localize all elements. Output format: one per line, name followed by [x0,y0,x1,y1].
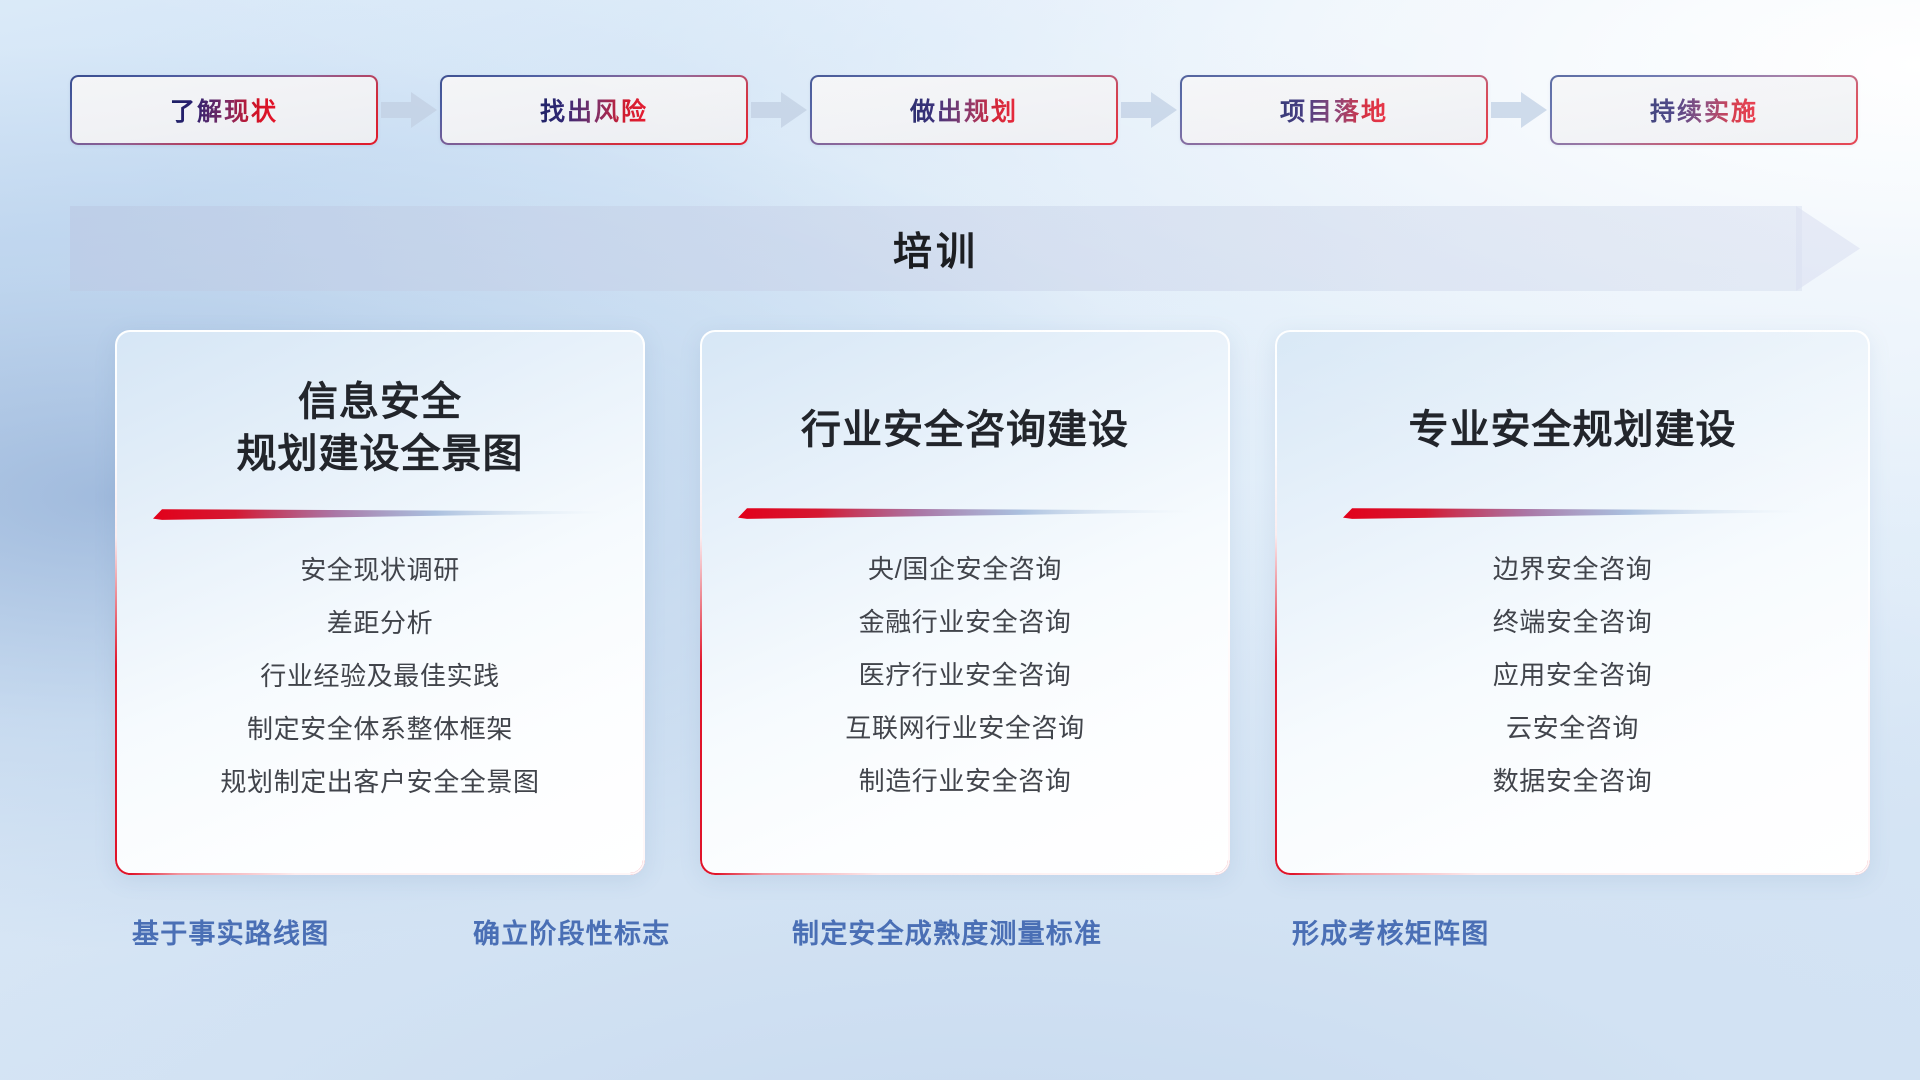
service-card-title: 专业安全规划建设 [1409,404,1737,456]
banner-arrow-tip-icon [1796,195,1860,302]
process-step-5[interactable]: 持续实施 [1550,75,1858,145]
right-arrow-icon [1118,91,1180,129]
process-step-1[interactable]: 了解现状 [70,75,378,145]
service-card-content: 信息安全 规划建设全景图 [115,330,645,875]
card-divider-bar [738,505,1193,519]
service-card-row: 信息安全 规划建设全景图 [70,330,1860,875]
process-step-label: 做出规划 [910,92,1018,128]
card-divider-bar [1343,505,1803,519]
card-divider-bar [153,506,608,520]
process-step-2[interactable]: 找出风险 [440,75,748,145]
list-item: 金融行业安全咨询 [859,602,1072,639]
caption-3: 制定安全成熟度测量标准 [792,912,1102,951]
process-step-label: 持续实施 [1650,92,1758,128]
slide-canvas: 了解现状 找出风险 做出规划 [0,0,1920,1080]
training-banner-title: 培训 [70,206,1802,291]
list-item: 规划制定出客户安全全景图 [220,762,539,799]
caption-row: 基于事实路线图 确立阶段性标志 制定安全成熟度测量标准 形成考核矩阵图 [70,912,1860,962]
list-item: 安全现状调研 [300,550,460,587]
process-step-wrapper: 了解现状 [70,75,378,145]
process-step-label: 找出风险 [540,92,648,128]
process-step-wrapper: 持续实施 [1550,75,1858,145]
process-step-label: 了解现状 [170,92,278,128]
process-step-wrapper: 做出规划 [810,75,1118,145]
service-card-list: 安全现状调研 差距分析 行业经验及最佳实践 制定安全体系整体框架 规划制定出客户… [220,550,539,799]
training-banner: 培训 [70,206,1860,291]
process-step-4[interactable]: 项目落地 [1180,75,1488,145]
caption-1: 基于事实路线图 [132,912,329,951]
caption-4: 形成考核矩阵图 [1292,912,1489,951]
service-card-title: 信息安全 规划建设全景图 [237,376,524,480]
process-step-strip: 了解现状 找出风险 做出规划 [70,75,1860,145]
service-card-3[interactable]: 专业安全规划建设 [1275,330,1870,875]
list-item: 行业经验及最佳实践 [260,656,499,693]
list-item: 数据安全咨询 [1493,761,1653,798]
list-item: 央/国企安全咨询 [868,549,1062,586]
list-item: 终端安全咨询 [1493,602,1653,639]
list-item: 云安全咨询 [1506,708,1639,745]
process-step-wrapper: 找出风险 [440,75,748,145]
right-arrow-icon [378,91,440,129]
list-item: 差距分析 [327,603,433,640]
list-item: 互联网行业安全咨询 [845,708,1084,745]
list-item: 制定安全体系整体框架 [247,709,513,746]
list-item: 边界安全咨询 [1493,549,1653,586]
process-step-label: 项目落地 [1280,92,1388,128]
service-card-content: 专业安全规划建设 [1275,330,1870,875]
service-card-title: 行业安全咨询建设 [801,404,1129,456]
caption-2: 确立阶段性标志 [473,912,670,951]
service-card-list: 央/国企安全咨询 金融行业安全咨询 医疗行业安全咨询 互联网行业安全咨询 制造行… [845,549,1084,798]
service-card-2[interactable]: 行业安全咨询建设 [700,330,1230,875]
right-arrow-icon [748,91,810,129]
list-item: 医疗行业安全咨询 [859,655,1072,692]
service-card-list: 边界安全咨询 终端安全咨询 应用安全咨询 云安全咨询 数据安全咨询 [1493,549,1653,798]
list-item: 应用安全咨询 [1493,655,1653,692]
list-item: 制造行业安全咨询 [859,761,1072,798]
process-step-3[interactable]: 做出规划 [810,75,1118,145]
service-card-content: 行业安全咨询建设 [700,330,1230,875]
right-arrow-icon [1488,91,1550,129]
service-card-1[interactable]: 信息安全 规划建设全景图 [115,330,645,875]
process-step-wrapper: 项目落地 [1180,75,1488,145]
